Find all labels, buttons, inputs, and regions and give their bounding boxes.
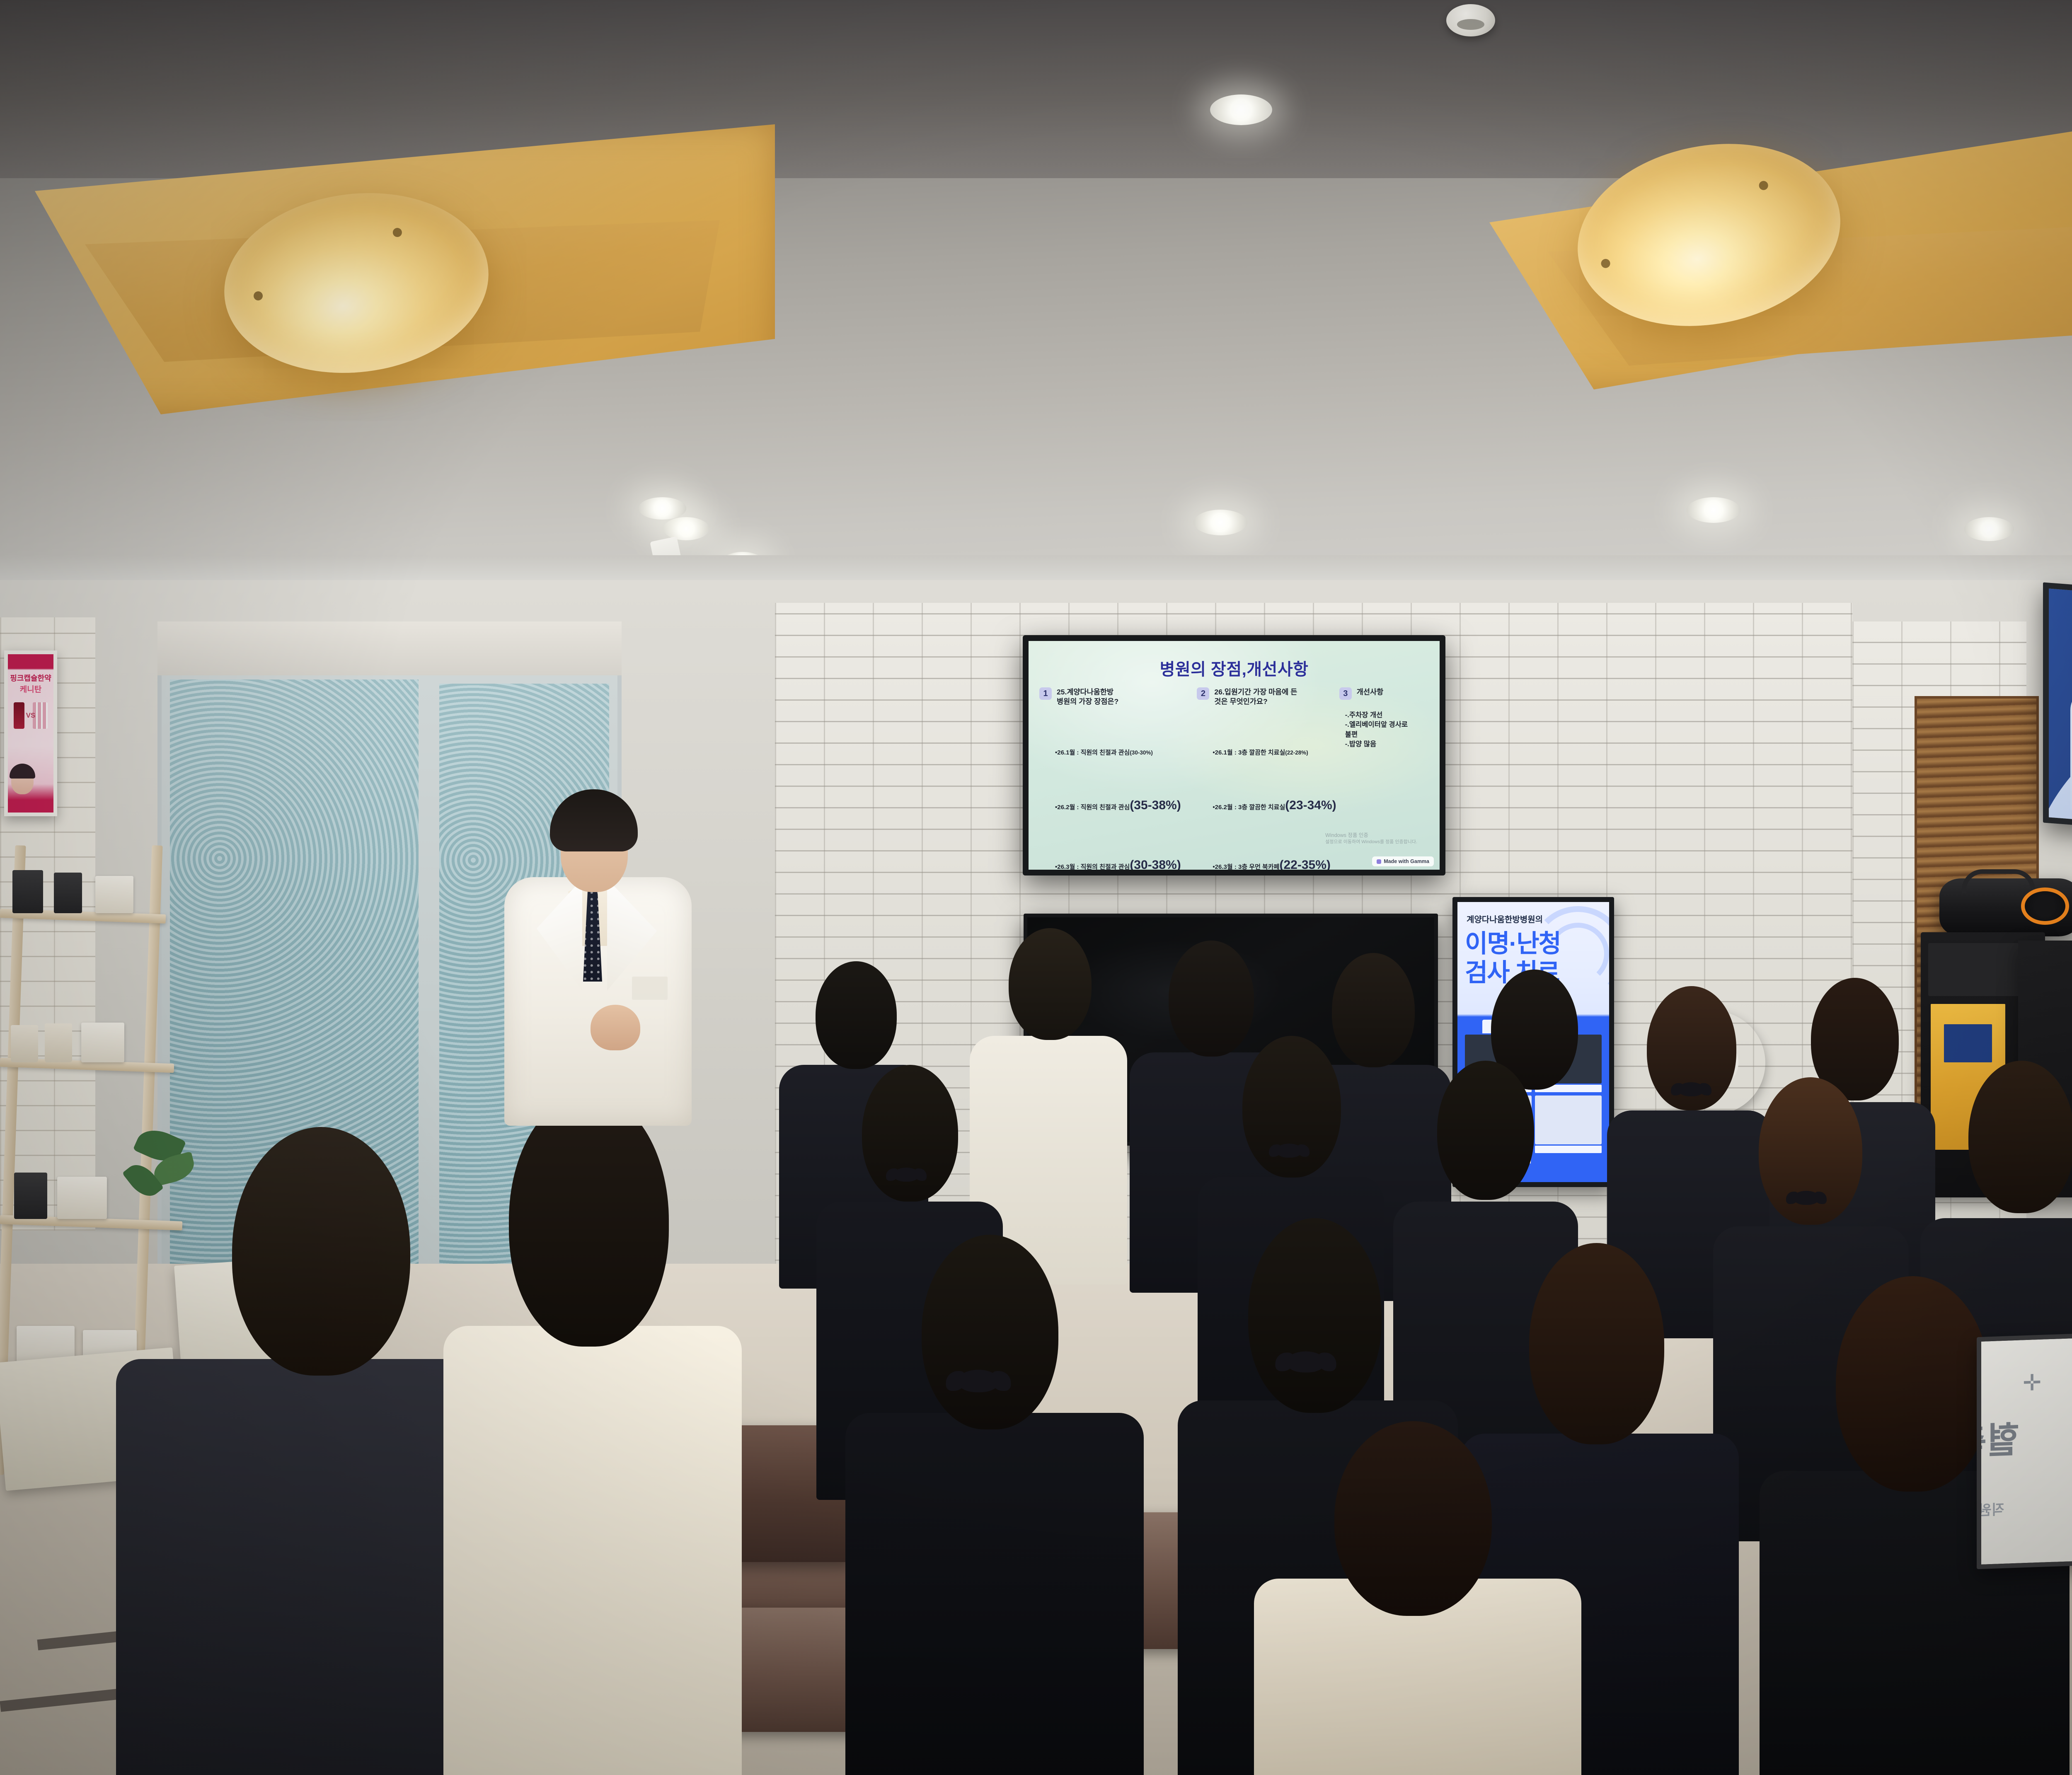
hair-bow-icon: [893, 1168, 919, 1182]
attendee-front-center: [841, 1235, 1148, 1775]
downlight-2: [663, 517, 709, 540]
maxwell-house-logo: [1944, 1024, 1992, 1062]
shelf-product-6: [81, 1023, 124, 1062]
smoke-detector-icon: [1446, 4, 1495, 36]
shelf-product-7: [14, 1173, 47, 1219]
improvement-item-4: -.밥양 많음: [1345, 740, 1431, 749]
slide-question-1: 25.계양다나움한방병원의 가장 장점은?: [1057, 687, 1118, 707]
presenter-hands: [591, 1005, 640, 1050]
hair-bow-icon: [1678, 1082, 1704, 1096]
improvement-item-2: -.엘리베이터앞 경사로: [1345, 720, 1431, 730]
slide-stat-1-2: •26.2월 : 직원의 친절과 관심(35-38%): [1055, 798, 1181, 813]
shelf-product-3: [95, 876, 133, 913]
presentation-room-scene: 병원의 장점,개선사항 1 25.계양다나움한방병원의 가장 장점은? •26.…: [0, 0, 2072, 1775]
shelf-product-2: [54, 873, 82, 913]
doctor-photo: [2068, 636, 2072, 818]
presentation-slide: 병원의 장점,개선사항 1 25.계양다나움한방병원의 가장 장점은? •26.…: [1029, 641, 1440, 870]
hair-bow-icon: [958, 1370, 999, 1392]
improvement-item-1: -.주차장 개선: [1345, 711, 1431, 720]
slide-badge-3: 3: [1339, 687, 1352, 700]
vs-label: VS: [8, 711, 53, 720]
bluetooth-speaker-icon[interactable]: [1939, 878, 2072, 936]
door-header-panel: [157, 621, 622, 675]
doctor-profile-display: 한의사 김진호원장: [2043, 582, 2072, 843]
bp-sign-subtitle: 직원 안내를 수령후 참여하세요!: [1977, 1498, 2004, 1525]
presenter-hair: [550, 789, 638, 851]
speaker-driver-ring: [2021, 888, 2069, 925]
shelf-product-5: [45, 1023, 72, 1062]
slide-column-3: 3 개선사항 -.주차장 개선 -.엘리베이터앞 경사로 불편 -.밥양 많음: [1339, 687, 1431, 855]
shelf-product-1: [12, 870, 43, 913]
slide-column-2: 2 26.입원기간 가장 마음에 든것은 무엇인가요? •26.1월 : 3층 …: [1197, 687, 1335, 855]
downlight-6: [1964, 517, 2014, 541]
gamma-logo-icon: [1377, 859, 1381, 864]
slide-badge-1: 1: [1039, 687, 1052, 700]
pink-poster-line-1: 핑크캡슐한약: [8, 672, 53, 683]
slide-stat-2-2: •26.2월 : 3층 깔끔한 치료실(23-34%): [1213, 798, 1336, 813]
attendee-front-cream: [1247, 1421, 1587, 1775]
downlight-1: [1210, 94, 1272, 125]
windows-activation-watermark: Windows 정품 인증 설정으로 이동하여 Windows를 정품 인증합니…: [1325, 832, 1417, 846]
ceiling-coffer-left: [0, 124, 775, 414]
blood-pressure-monitor-sign: ✛ 혈측정기 직원 안내를 수령후 참여하세요!: [1977, 1327, 2072, 1569]
slide-stat-2-3: •26.3월 : 3층 우먼 북카페(22-35%): [1213, 858, 1330, 870]
shelf-product-4: [11, 1025, 38, 1062]
model-photo: [11, 767, 34, 794]
projection-screen: 병원의 장점,개선사항 1 25.계양다나움한방병원의 가장 장점은? •26.…: [1023, 635, 1445, 875]
slide-stat-1-3: •26.3월 : 직원의 친절과 관심(30-38%): [1055, 858, 1181, 870]
pink-capsule-herbal-poster: 핑크캡슐한약 케니탄 VS: [4, 651, 57, 816]
hair-bow-icon: [1794, 1191, 1819, 1205]
speaker-handle: [1962, 869, 2035, 894]
downlight-4: [1193, 510, 1247, 535]
presenter-coat-pocket: [632, 977, 668, 1000]
hair-bow-icon: [1276, 1144, 1302, 1158]
improvement-item-3: 불편: [1345, 730, 1431, 740]
bp-sign-title: 혈측정기: [1977, 1411, 2019, 1467]
downlight-7: [638, 497, 686, 520]
slide-title: 병원의 장점,개선사항: [1029, 656, 1440, 680]
ceiling-coffer-right: [1368, 41, 2072, 389]
slide-column-1: 1 25.계양다나움한방병원의 가장 장점은? •26.1월 : 직원의 친절과…: [1039, 687, 1193, 855]
gamma-badge: Made with Gamma: [1372, 856, 1434, 866]
shelf-product-8: [57, 1177, 107, 1219]
presenter-doctor: [487, 789, 727, 1278]
slide-stat-2-1: •26.1월 : 3층 깔끔한 치료실(22-28%): [1213, 748, 1308, 757]
slide-badge-2: 2: [1197, 687, 1209, 700]
slide-stat-1-1: •26.1월 : 직원의 친절과 관심(30-30%): [1055, 748, 1153, 757]
medical-cross-icon: ✛: [2023, 1370, 2048, 1395]
hair-bow-icon: [1287, 1352, 1325, 1373]
improvement-list: -.주차장 개선 -.엘리베이터앞 경사로 불편 -.밥양 많음: [1345, 711, 1431, 750]
slide-question-2: 26.입원기간 가장 마음에 든것은 무엇인가요?: [1214, 687, 1297, 707]
slide-heading-3: 개선사항: [1357, 687, 1383, 697]
pink-poster-line-2: 케니탄: [8, 683, 53, 694]
poster-subtitle: 계양다나움한방병원의: [1467, 913, 1543, 925]
downlight-5: [1687, 497, 1740, 523]
